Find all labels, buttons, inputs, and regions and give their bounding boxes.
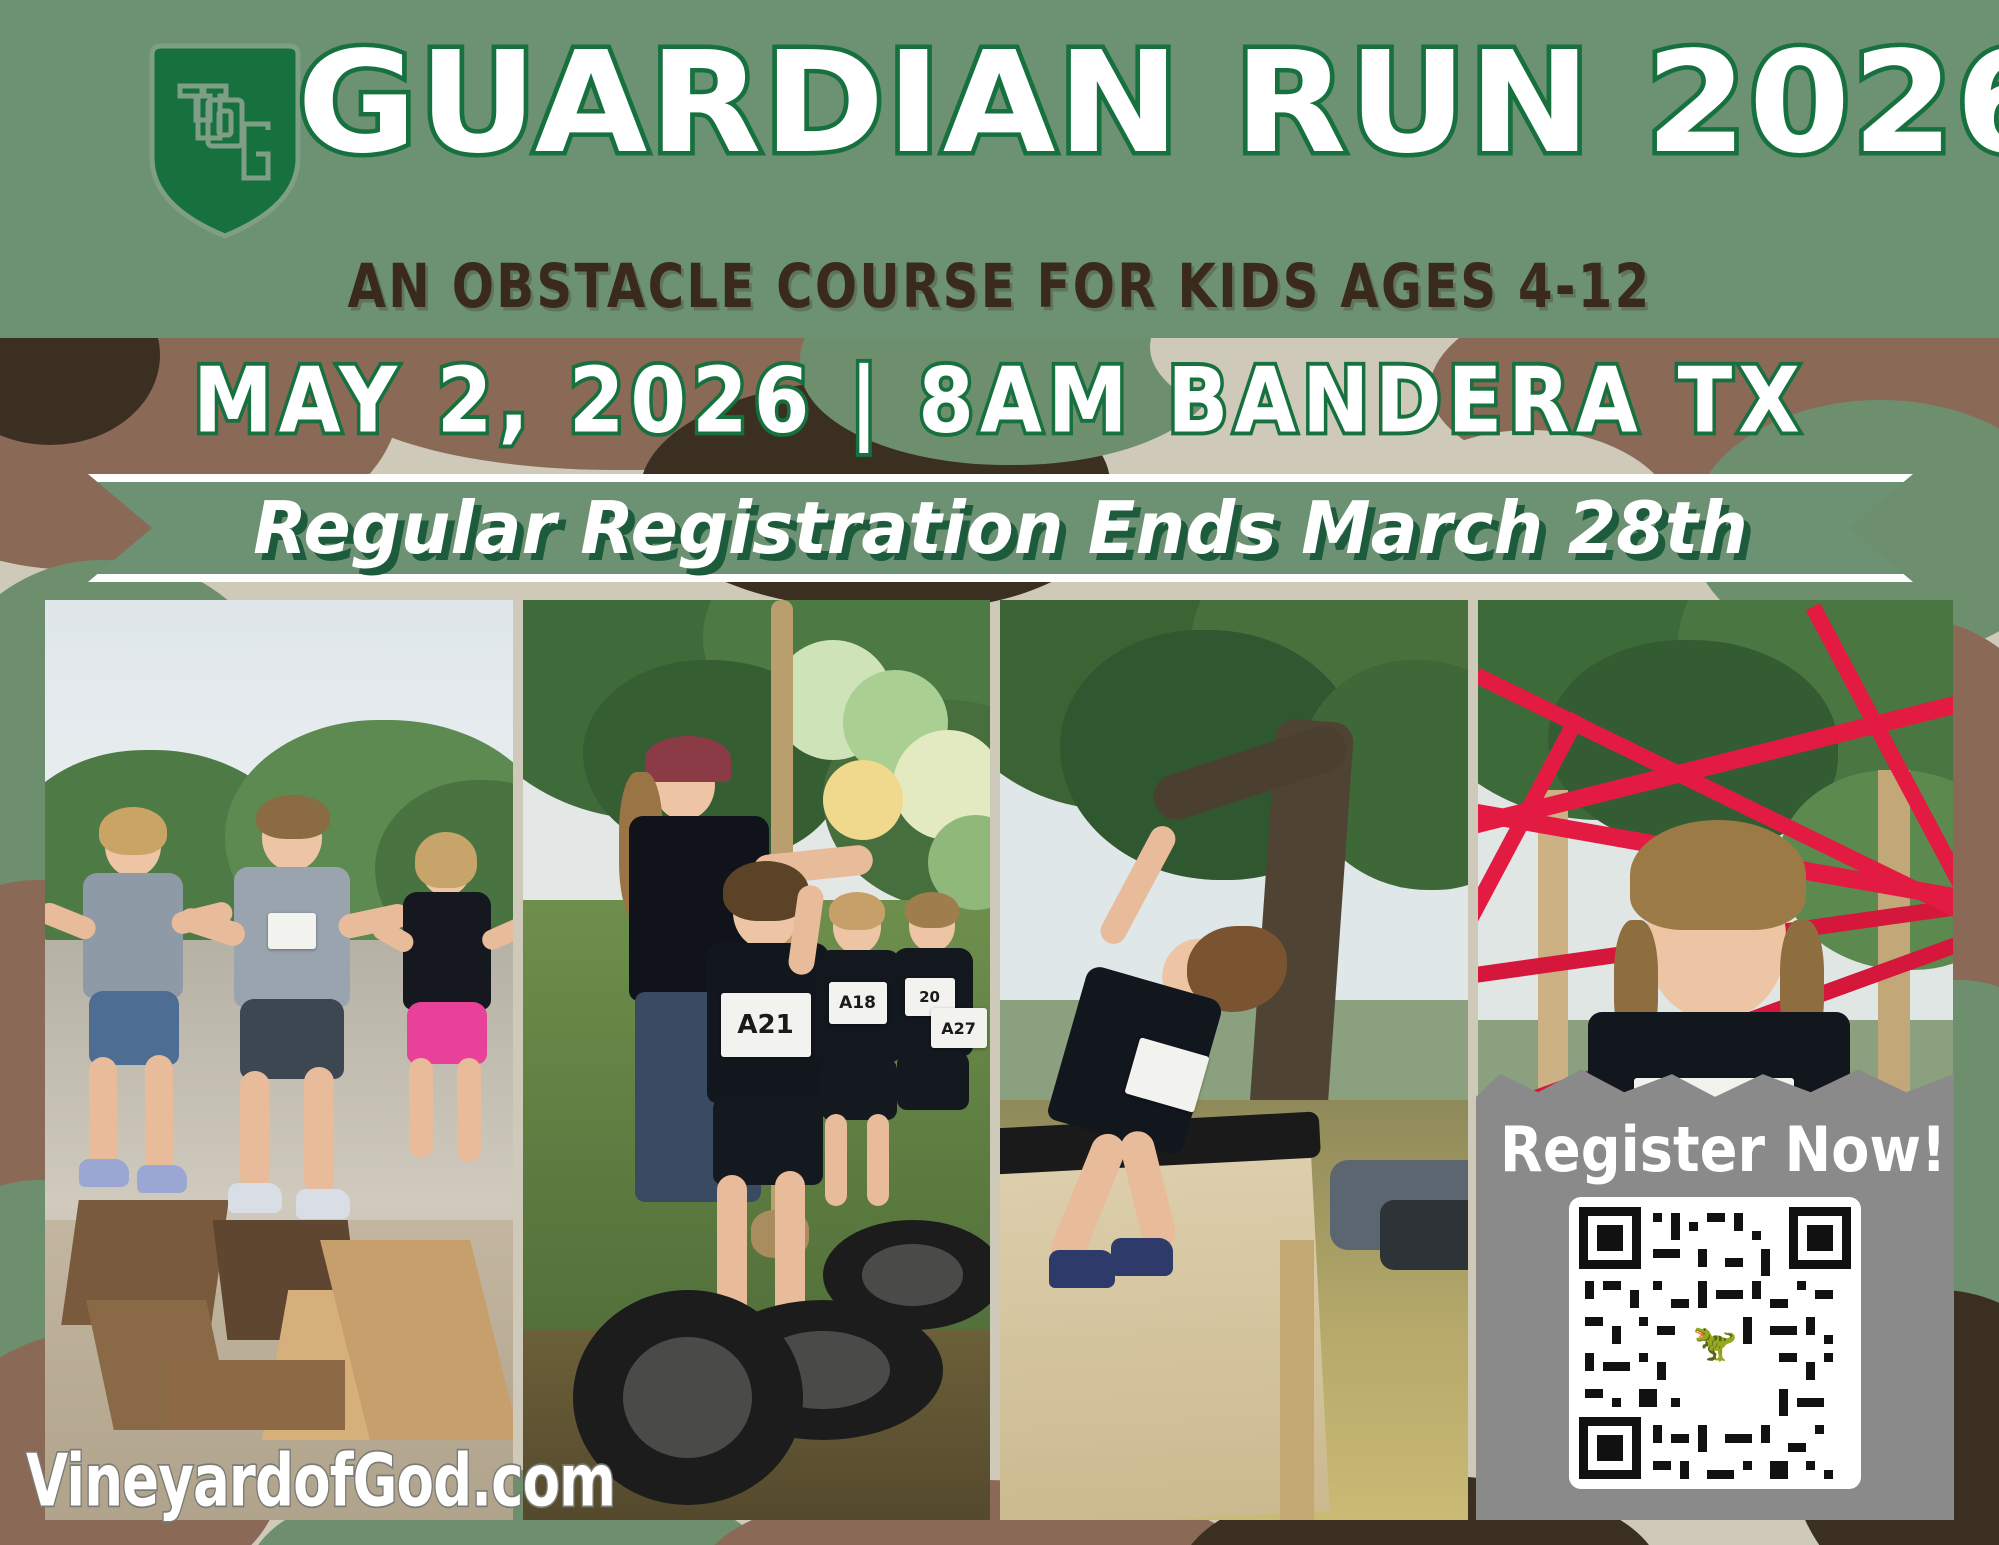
child-leg	[145, 1055, 173, 1173]
qr-module	[1698, 1281, 1707, 1308]
child-shoe	[137, 1165, 187, 1193]
adult-cap	[645, 736, 731, 782]
balloon-arch	[823, 760, 903, 840]
qr-module	[1653, 1281, 1662, 1290]
child-shoe	[228, 1183, 282, 1213]
qr-module	[1639, 1317, 1648, 1326]
qr-module	[1639, 1389, 1657, 1407]
hurdle-obstacle	[165, 1360, 345, 1430]
qr-module	[1815, 1290, 1833, 1299]
qr-module	[1725, 1434, 1752, 1443]
qr-module	[1806, 1362, 1815, 1380]
child-runner	[210, 805, 385, 1255]
registration-deadline-ribbon: Regular Registration Ends March 28th	[88, 474, 1913, 582]
qr-module	[1671, 1299, 1689, 1308]
vog-shield-logo	[140, 38, 310, 243]
child-leg	[825, 1114, 847, 1206]
qr-module	[1761, 1425, 1770, 1443]
child-spectator: A27	[913, 890, 991, 1190]
race-bib: A21	[721, 993, 811, 1057]
child-hair	[415, 832, 477, 888]
qr-module	[1716, 1290, 1743, 1299]
qr-module	[1707, 1470, 1734, 1479]
qr-module	[1770, 1299, 1788, 1308]
qr-canvas: 🦖	[1579, 1207, 1851, 1479]
qr-module	[1585, 1389, 1603, 1398]
child-shoe	[1049, 1250, 1115, 1288]
registration-qr-code[interactable]: 🦖	[1569, 1197, 1861, 1489]
qr-finder-bottom-left	[1579, 1417, 1641, 1479]
website-url[interactable]: VineyardofGod.com	[26, 1438, 615, 1523]
child-shirt	[403, 892, 491, 1010]
qr-module	[1815, 1425, 1824, 1434]
qr-module	[1788, 1443, 1806, 1452]
qr-module	[1707, 1213, 1725, 1222]
child-climber	[1055, 830, 1315, 1300]
qr-module	[1761, 1249, 1770, 1276]
qr-module	[1743, 1317, 1752, 1344]
qr-module	[1653, 1425, 1662, 1443]
child-shorts	[240, 999, 344, 1079]
guardian-run-flyer: GUARDIAN RUN 2026 AN OBSTACLE COURSE FOR…	[0, 0, 1999, 1545]
qr-module	[1743, 1461, 1752, 1470]
qr-finder-top-right	[1789, 1207, 1851, 1269]
qr-module	[1797, 1281, 1806, 1290]
child-hair	[256, 795, 330, 839]
photo-wall-climb	[1000, 600, 1468, 1520]
qr-module	[1671, 1213, 1680, 1240]
qr-finder-top-left	[1579, 1207, 1641, 1269]
qr-module	[1603, 1281, 1621, 1290]
child-shoe	[1111, 1238, 1173, 1276]
page-title: GUARDIAN RUN 2026	[297, 34, 1999, 174]
qr-module	[1671, 1434, 1689, 1443]
qr-module	[1680, 1461, 1689, 1479]
parked-vehicle	[1380, 1200, 1468, 1270]
qr-center-logo: 🦖	[1688, 1316, 1742, 1370]
qr-module	[1612, 1398, 1621, 1407]
child-shoe	[296, 1189, 350, 1219]
ribbon-label: Regular Registration Ends March 28th	[115, 474, 1885, 582]
child-leg	[409, 1058, 433, 1158]
qr-module	[1779, 1353, 1797, 1362]
qr-module	[1603, 1362, 1630, 1371]
qr-module	[1806, 1461, 1815, 1470]
qr-module	[1653, 1461, 1671, 1470]
child-hair	[829, 892, 885, 930]
child-leg	[304, 1067, 334, 1195]
qr-module	[1657, 1362, 1666, 1380]
header-band: GUARDIAN RUN 2026 AN OBSTACLE COURSE FOR…	[0, 0, 1999, 338]
event-date-line: MAY 2, 2026 | 8AM BANDERA TX	[0, 348, 1999, 452]
qr-module	[1779, 1389, 1788, 1416]
child-shoe	[79, 1159, 129, 1187]
child-hair	[99, 807, 167, 855]
qr-module	[1639, 1353, 1648, 1362]
qr-module	[1698, 1425, 1707, 1452]
child-shorts	[407, 1002, 487, 1064]
page-subtitle: AN OBSTACLE COURSE FOR KIDS AGES 4-12	[80, 251, 1919, 322]
qr-module	[1689, 1222, 1698, 1231]
qr-module	[1653, 1249, 1680, 1258]
child-runner	[385, 840, 513, 1240]
qr-module	[1653, 1213, 1662, 1222]
qr-module	[1585, 1317, 1603, 1326]
qr-module	[1770, 1326, 1797, 1335]
child-braids	[1630, 820, 1806, 930]
qr-module	[1770, 1461, 1788, 1479]
qr-module	[1585, 1281, 1594, 1299]
qr-module	[1734, 1213, 1743, 1231]
child-leg	[457, 1058, 481, 1162]
qr-module	[1752, 1231, 1761, 1240]
qr-module	[1585, 1353, 1594, 1371]
qr-module	[1612, 1326, 1621, 1344]
race-bib: A27	[931, 1008, 987, 1048]
child-runner	[65, 815, 215, 1235]
photo-kids-hurdles	[45, 600, 513, 1520]
qr-module	[1752, 1281, 1761, 1299]
child-leg	[89, 1057, 117, 1167]
qr-module	[1630, 1290, 1639, 1308]
qr-module	[1671, 1398, 1680, 1407]
qr-module	[1824, 1335, 1833, 1344]
child-shorts	[89, 991, 179, 1065]
register-now-panel[interactable]: Register Now!	[1476, 1065, 1954, 1520]
photo-rope-tire: A21 A18 20	[523, 600, 991, 1520]
qr-module	[1806, 1317, 1815, 1335]
qr-module	[1797, 1398, 1824, 1407]
child-leg	[240, 1071, 270, 1191]
register-now-label: Register Now!	[1500, 1113, 1930, 1186]
race-bib: A18	[829, 982, 887, 1024]
child-shirt	[83, 873, 183, 998]
child-arm	[1096, 822, 1180, 949]
qr-module	[1725, 1258, 1743, 1267]
race-bib	[268, 913, 316, 949]
qr-module	[1824, 1353, 1833, 1362]
qr-module	[1657, 1326, 1675, 1335]
qr-module	[1698, 1249, 1707, 1267]
qr-module	[1824, 1470, 1833, 1479]
